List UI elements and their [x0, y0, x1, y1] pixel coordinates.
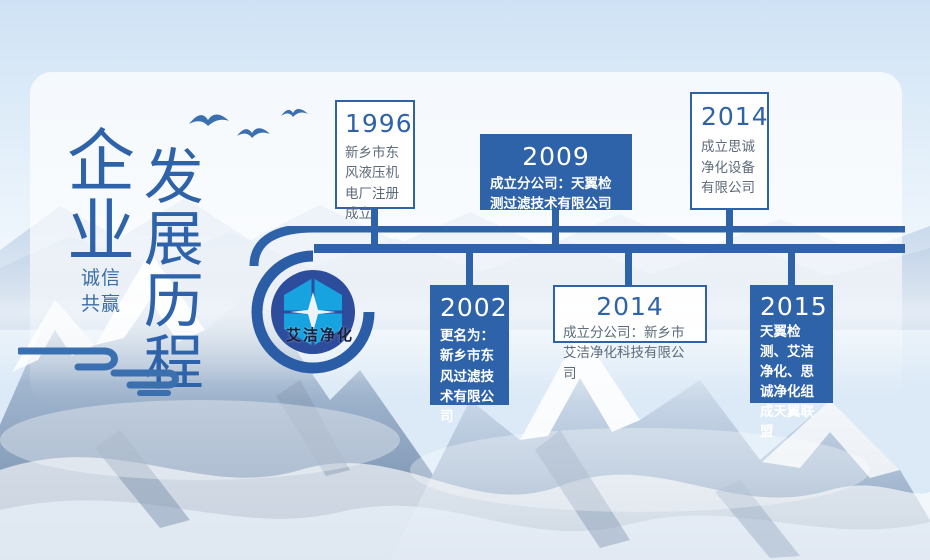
- stem-2009: [552, 209, 559, 247]
- timeline-card-desc: 新乡市东风液压机电厂注册成立: [345, 143, 405, 224]
- timeline-rail: [240, 226, 905, 268]
- timeline-card-year: 2009: [490, 142, 622, 171]
- timeline-card-year: 1996: [345, 109, 405, 138]
- timeline-card-2015[interactable]: 2015 天翼检测、艾洁净化、思诚净化组成天翼联盟: [750, 285, 833, 403]
- timeline-card-desc: 成立分公司：天翼检测过滤技术有限公司: [490, 174, 622, 215]
- timeline-card-desc: 成立思诚净化设备有限公司: [701, 137, 759, 199]
- timeline-card-year: 2002: [440, 293, 499, 322]
- timeline-card-desc: 天翼检测、艾洁净化、思诚净化组成天翼联盟: [760, 323, 823, 443]
- timeline-card-1996[interactable]: 1996 新乡市东风液压机电厂注册成立: [335, 100, 415, 209]
- stem-2002: [466, 252, 473, 287]
- subtitle-b: 共赢: [81, 293, 121, 315]
- timeline-card-2014-top[interactable]: 2014 成立思诚净化设备有限公司: [690, 92, 769, 210]
- timeline-card-2014-bottom[interactable]: 2014 成立分公司：新乡市艾洁净化科技有限公司: [553, 285, 707, 343]
- stem-2014-top: [726, 210, 733, 247]
- timeline-card-year: 2014: [701, 102, 759, 131]
- banner-canvas: 企业 发展历程 诚信共赢 艾洁净化: [0, 0, 930, 560]
- timeline-card-year: 2015: [760, 292, 823, 321]
- stem-2015: [788, 252, 795, 287]
- timeline-card-2009[interactable]: 2009 成立分公司：天翼检测过滤技术有限公司: [480, 134, 632, 210]
- logo-text: 艾洁净化: [272, 324, 368, 345]
- timeline-card-year: 2014: [563, 292, 697, 321]
- timeline-card-desc: 更名为：新乡市东风过滤技术有限公司: [440, 326, 499, 427]
- headline-line-1: 企业: [62, 125, 125, 265]
- chinese-cloud-motif-icon: [18, 325, 228, 410]
- stem-2014-bottom: [625, 252, 632, 287]
- timeline-card-2002[interactable]: 2002 更名为：新乡市东风过滤技术有限公司: [430, 285, 509, 405]
- subtitle-a: 诚信: [81, 267, 121, 289]
- headline-subtitle: 诚信共赢: [68, 266, 134, 317]
- timeline-card-desc: 成立分公司：新乡市艾洁净化科技有限公司: [563, 323, 697, 384]
